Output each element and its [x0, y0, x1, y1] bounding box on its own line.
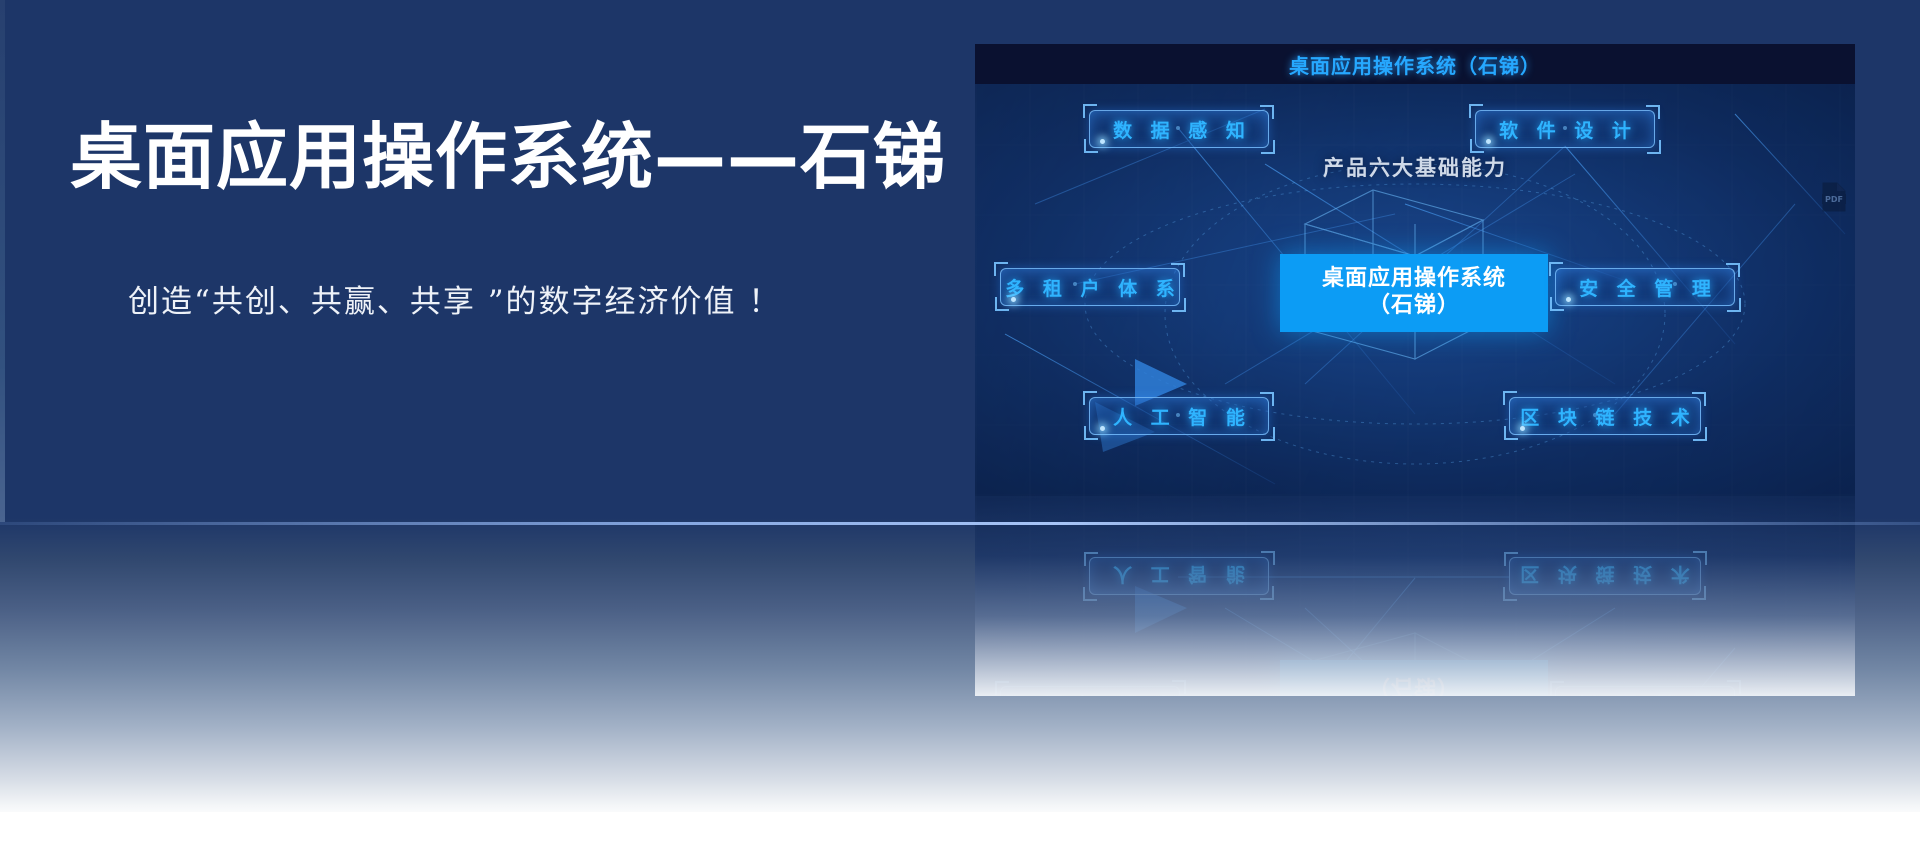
page-subtitle: 创造“共创、共赢、共享 ”的数字经济价值 ！ [128, 276, 781, 321]
page-title: 桌面应用操作系统——石锑 [70, 118, 946, 197]
capability-label: 区 块 链 技 术 [1514, 403, 1695, 430]
slide-canvas: 桌面应用操作系统——石锑 创造“共创、共赢、共享 ”的数字经济价值 ！ 桌面应用… [0, 0, 1920, 860]
reflection-chip-security-management: 安 全 管 理 [1555, 686, 1735, 696]
center-card-line-1: 桌面应用操作系统 [1322, 266, 1506, 293]
capability-label: 人 工 智 能 [1107, 563, 1251, 590]
capability-label: 软 件 设 计 [1493, 116, 1637, 143]
reflection-center-card: 桌面应用操作系统 （石锑） [1280, 660, 1548, 696]
capability-label: 人 工 智 能 [1107, 403, 1251, 430]
reflection-card-line-2: （石锑） [1368, 672, 1460, 696]
capability-label: 数 据 感 知 [1107, 116, 1251, 143]
capability-chip-security-management[interactable]: 安 全 管 理 [1555, 268, 1735, 306]
capability-label: 安 全 管 理 [1573, 692, 1717, 697]
panel-header-title: 桌面应用操作系统（石锑） [1289, 50, 1541, 79]
capability-label: 多 租 户 体 系 [999, 692, 1180, 697]
capability-chip-multi-tenant[interactable]: 多 租 户 体 系 [1000, 268, 1180, 306]
reflection-chip-blockchain: 区 块 链 技 术 [1509, 557, 1701, 595]
panel-header: 桌面应用操作系统（石锑） [975, 44, 1855, 84]
panel-reflection-body: 产品六大基础能力 桌面应用操作系统 （石锑） 数 据 感 知 软 件 设 计 多… [975, 496, 1855, 696]
cube-caption: 产品六大基础能力 [975, 152, 1855, 182]
product-diagram-panel: 桌面应用操作系统（石锑） [975, 44, 1855, 496]
svg-text:PDF: PDF [1825, 195, 1843, 204]
panel-reflection-surface: 桌面应用操作系统（石锑） [975, 496, 1855, 696]
horizon-line [0, 522, 1920, 525]
left-edge-strip [0, 0, 5, 522]
center-card-line-2: （石锑） [1368, 293, 1460, 320]
panel-reflection: 桌面应用操作系统（石锑） [975, 496, 1855, 696]
capability-label: 安 全 管 理 [1573, 274, 1717, 301]
reflection-chip-multi-tenant: 多 租 户 体 系 [1000, 686, 1180, 696]
capability-chip-software-design[interactable]: 软 件 设 计 [1475, 110, 1655, 148]
capability-chip-artificial-intelligence[interactable]: 人 工 智 能 [1089, 397, 1269, 435]
panel-surface: 桌面应用操作系统（石锑） [975, 44, 1855, 496]
pdf-icon: PDF [1821, 182, 1847, 212]
capability-chip-blockchain[interactable]: 区 块 链 技 术 [1509, 397, 1701, 435]
panel-reflection-image: 桌面应用操作系统（石锑） [975, 496, 1855, 696]
capability-label: 多 租 户 体 系 [999, 274, 1180, 301]
capability-label: 区 块 链 技 术 [1514, 563, 1695, 590]
background-bottom-white [0, 812, 1920, 860]
center-product-card: 桌面应用操作系统 （石锑） [1280, 254, 1548, 332]
capability-chip-data-perception[interactable]: 数 据 感 知 [1089, 110, 1269, 148]
reflection-chip-artificial-intelligence: 人 工 智 能 [1089, 557, 1269, 595]
panel-body: 产品六大基础能力 桌面应用操作系统 （石锑） 数 据 感 知 软 件 设 计 多… [975, 84, 1855, 496]
